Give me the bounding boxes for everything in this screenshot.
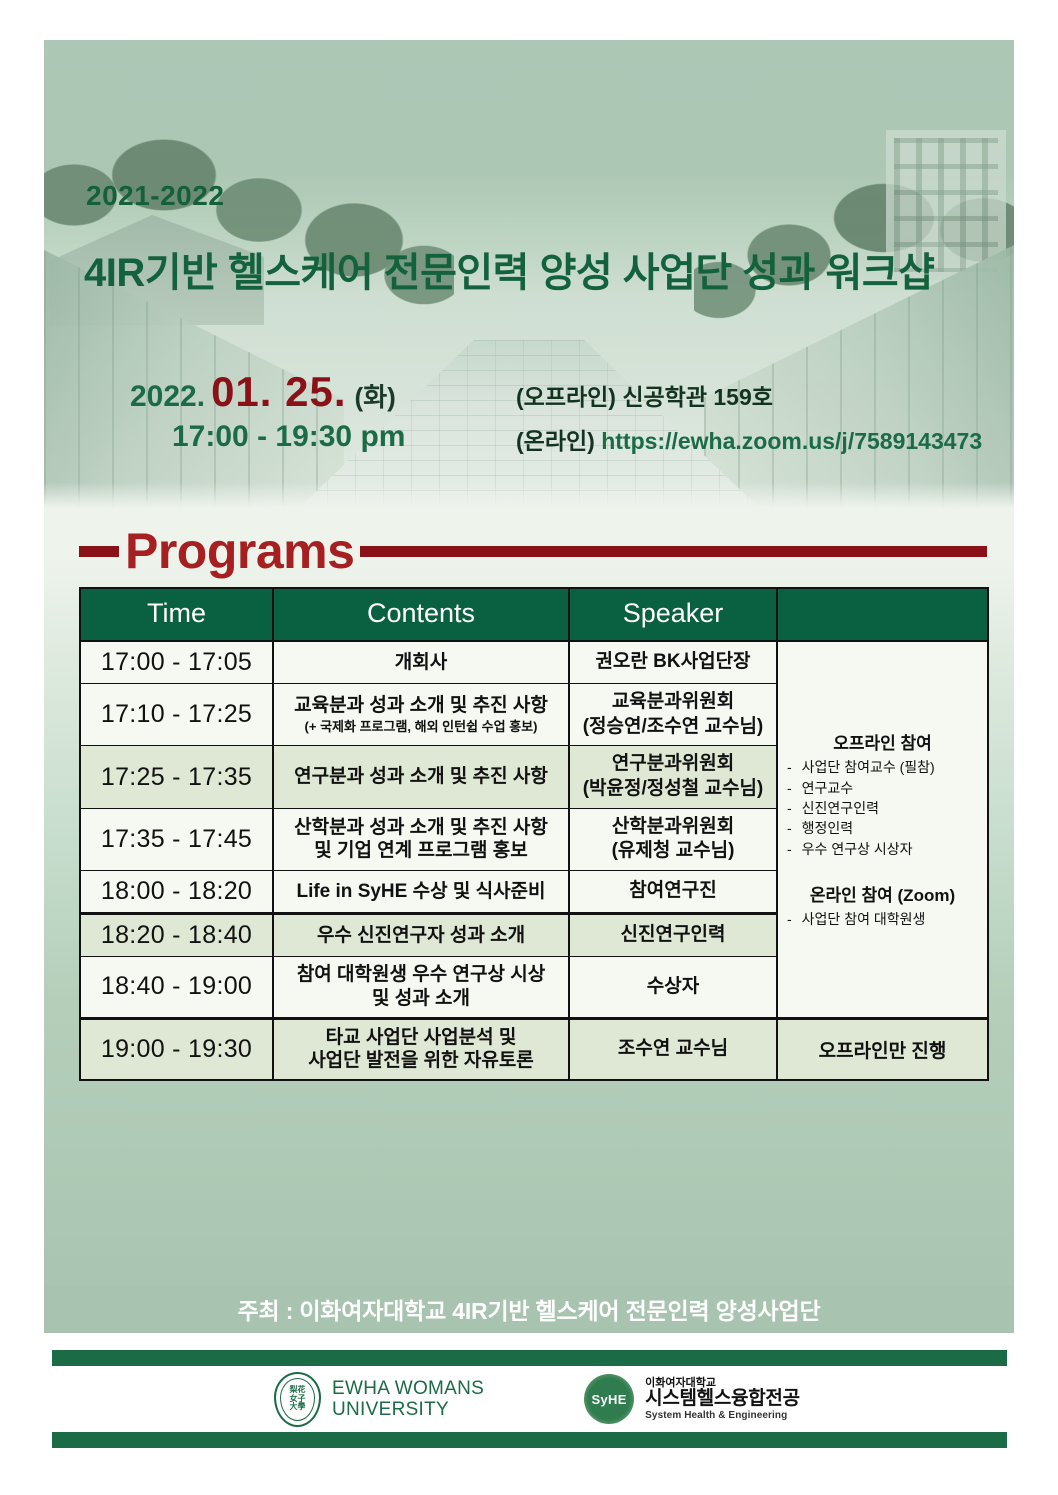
column-header-time: Time: [80, 588, 273, 641]
list-item-label: 신진연구인력: [802, 798, 879, 818]
dash-bullet: -: [787, 818, 792, 838]
host-bar: 주최 : 이화여자대학교 4IR기반 헬스케어 전문인력 양성사업단: [44, 1285, 1014, 1333]
footer-divider-top: [52, 1350, 1007, 1366]
list-item: -사업단 참여 대학원생: [783, 909, 982, 929]
zoom-link[interactable]: https://ewha.zoom.us/j/7589143473: [601, 428, 982, 454]
contents-main: Life in SyHE 수상 및 식사준비: [296, 881, 545, 902]
event-date: 2022. 01. 25. (화): [130, 368, 396, 416]
cell-time: 18:20 - 18:40: [80, 914, 273, 957]
cell-time: 17:10 - 17:25: [80, 684, 273, 746]
online-participation-heading: 온라인 참여 (Zoom): [783, 881, 982, 906]
table-header-row: Time Contents Speaker: [80, 588, 988, 641]
host-text: 주최 : 이화여자대학교 4IR기반 헬스케어 전문인력 양성사업단: [238, 1292, 821, 1326]
programs-title: Programs: [119, 526, 360, 576]
cell-speaker: 연구분과위원회(박윤정/정성철 교수님): [569, 746, 777, 808]
ewha-logo-line2: UNIVERSITY: [332, 1399, 484, 1420]
cell-contents: 연구분과 성과 소개 및 추진 사항: [273, 746, 569, 808]
list-item: -연구교수: [783, 778, 982, 798]
cell-speaker: 권오란 BK사업단장: [569, 641, 777, 684]
list-item: -우수 연구상 시상자: [783, 839, 982, 859]
cell-speaker: 참여연구진: [569, 871, 777, 914]
offline-participation-heading: 오프라인 참여: [783, 729, 982, 754]
table-row: 17:00 - 17:05 개회사 권오란 BK사업단장 오프라인 참여 -사업…: [80, 641, 988, 684]
ewha-logo: 梨花女子大學 EWHA WOMANS UNIVERSITY: [274, 1372, 484, 1427]
contents-main: 개회사: [395, 652, 447, 673]
page-title: 4IR기반 헬스케어 전문인력 양성 사업단 성과 워크샵: [84, 240, 994, 298]
cell-time: 17:35 - 17:45: [80, 808, 273, 870]
syhe-mark-text: SyHE: [592, 1392, 627, 1407]
list-item-label: 사업단 참여교수 (필참): [802, 757, 935, 777]
cell-contents: 우수 신진연구자 성과 소개: [273, 914, 569, 957]
heading-rule-right: [360, 546, 987, 557]
event-time: 17:00 - 19:30 pm: [172, 420, 405, 454]
cell-contents: 교육분과 성과 소개 및 추진 사항 (+ 국제화 프로그램, 해외 인턴쉽 수…: [273, 684, 569, 746]
list-item: -행정인력: [783, 818, 982, 838]
photo-bottom-fade: [44, 482, 1014, 508]
venue-online: (온라인) https://ewha.zoom.us/j/7589143473: [516, 422, 982, 456]
cell-time: 18:40 - 19:00: [80, 957, 273, 1019]
list-item-label: 사업단 참여 대학원생: [802, 909, 926, 929]
logo-band: 梨花女子大學 EWHA WOMANS UNIVERSITY SyHE 이화여자대…: [52, 1366, 1007, 1432]
participation-note-cell: 오프라인 참여 -사업단 참여교수 (필참) -연구교수 -신진연구인력 -행정…: [777, 641, 988, 1018]
contents-main: 참여 대학원생 우수 연구상 시상및 성과 소개: [297, 964, 545, 1009]
list-item: -사업단 참여교수 (필참): [783, 757, 982, 777]
dash-bullet: -: [787, 798, 792, 818]
contents-main: 교육분과 성과 소개 및 추진 사항: [294, 695, 548, 716]
venue-offline: (오프라인) 신공학관 159호: [516, 378, 773, 412]
cell-contents: 산학분과 성과 소개 및 추진 사항및 기업 연계 프로그램 홍보: [273, 808, 569, 870]
cell-time: 17:00 - 17:05: [80, 641, 273, 684]
contents-main: 타교 사업단 사업분석 및사업단 발전을 위한 자유토론: [308, 1027, 534, 1072]
online-participation-list: -사업단 참여 대학원생: [783, 909, 982, 929]
heading-rule-left: [79, 546, 119, 557]
cell-speaker: 산학분과위원회(유제청 교수님): [569, 808, 777, 870]
syhe-department: 시스템헬스융합전공: [645, 1389, 800, 1410]
program-schedule-table: Time Contents Speaker 17:00 - 17:05 개회사 …: [79, 587, 989, 1081]
dash-bullet: -: [787, 909, 792, 929]
contents-main: 연구분과 성과 소개 및 추진 사항: [294, 766, 548, 787]
dash-bullet: -: [787, 757, 792, 777]
contents-subnote: (+ 국제화 프로그램, 해외 인턴쉽 수업 홍보): [279, 719, 563, 735]
ewha-seal-inner-text: 梨花女子大學: [290, 1386, 306, 1411]
column-header-speaker: Speaker: [569, 588, 777, 641]
dash-bullet: -: [787, 839, 792, 859]
ewha-logo-line1: EWHA WOMANS: [332, 1378, 484, 1399]
cell-time: 18:00 - 18:20: [80, 871, 273, 914]
list-item-label: 연구교수: [802, 778, 854, 798]
syhe-logo: SyHE 이화여자대학교 시스템헬스융합전공 System Health & E…: [584, 1374, 800, 1424]
offline-only-note: 오프라인만 진행: [783, 1036, 982, 1063]
column-header-contents: Contents: [273, 588, 569, 641]
cell-contents: Life in SyHE 수상 및 식사준비: [273, 871, 569, 914]
syhe-mark-icon: SyHE: [584, 1374, 634, 1424]
cell-speaker: 교육분과위원회(정승연/조수연 교수님): [569, 684, 777, 746]
date-day-of-week: (화): [355, 377, 396, 414]
last-row-note-cell: 오프라인만 진행: [777, 1018, 988, 1080]
programs-heading: Programs: [79, 520, 987, 582]
list-item-label: 우수 연구상 시상자: [802, 839, 913, 859]
syhe-logo-text: 이화여자대학교 시스템헬스융합전공 System Health & Engine…: [645, 1377, 800, 1421]
cell-speaker: 수상자: [569, 957, 777, 1019]
list-item: -신진연구인력: [783, 798, 982, 818]
syhe-department-en: System Health & Engineering: [645, 1410, 800, 1421]
contents-main: 우수 신진연구자 성과 소개: [317, 925, 525, 946]
column-header-note: [777, 588, 988, 641]
venue-online-label: (온라인): [516, 428, 601, 454]
contents-main: 산학분과 성과 소개 및 추진 사항및 기업 연계 프로그램 홍보: [294, 817, 548, 862]
dash-bullet: -: [787, 778, 792, 798]
cell-time: 19:00 - 19:30: [80, 1018, 273, 1080]
poster-root: 2021-2022 4IR기반 헬스케어 전문인력 양성 사업단 성과 워크샵 …: [0, 0, 1058, 1495]
footer-divider-bottom: [52, 1432, 1007, 1448]
list-item-label: 행정인력: [802, 818, 854, 838]
academic-years: 2021-2022: [86, 180, 224, 212]
ewha-seal-icon: 梨花女子大學: [274, 1372, 321, 1427]
cell-time: 17:25 - 17:35: [80, 746, 273, 808]
cell-speaker: 신진연구인력: [569, 914, 777, 957]
ewha-logo-text: EWHA WOMANS UNIVERSITY: [332, 1378, 484, 1421]
cell-contents: 개회사: [273, 641, 569, 684]
cell-contents: 참여 대학원생 우수 연구상 시상및 성과 소개: [273, 957, 569, 1019]
offline-participation-list: -사업단 참여교수 (필참) -연구교수 -신진연구인력 -행정인력 -우수 연…: [783, 757, 982, 858]
date-month-day: 01. 25.: [211, 368, 346, 416]
cell-contents: 타교 사업단 사업분석 및사업단 발전을 위한 자유토론: [273, 1018, 569, 1080]
date-year: 2022.: [130, 380, 205, 414]
cell-speaker: 조수연 교수님: [569, 1018, 777, 1080]
table-row: 19:00 - 19:30 타교 사업단 사업분석 및사업단 발전을 위한 자유…: [80, 1018, 988, 1080]
